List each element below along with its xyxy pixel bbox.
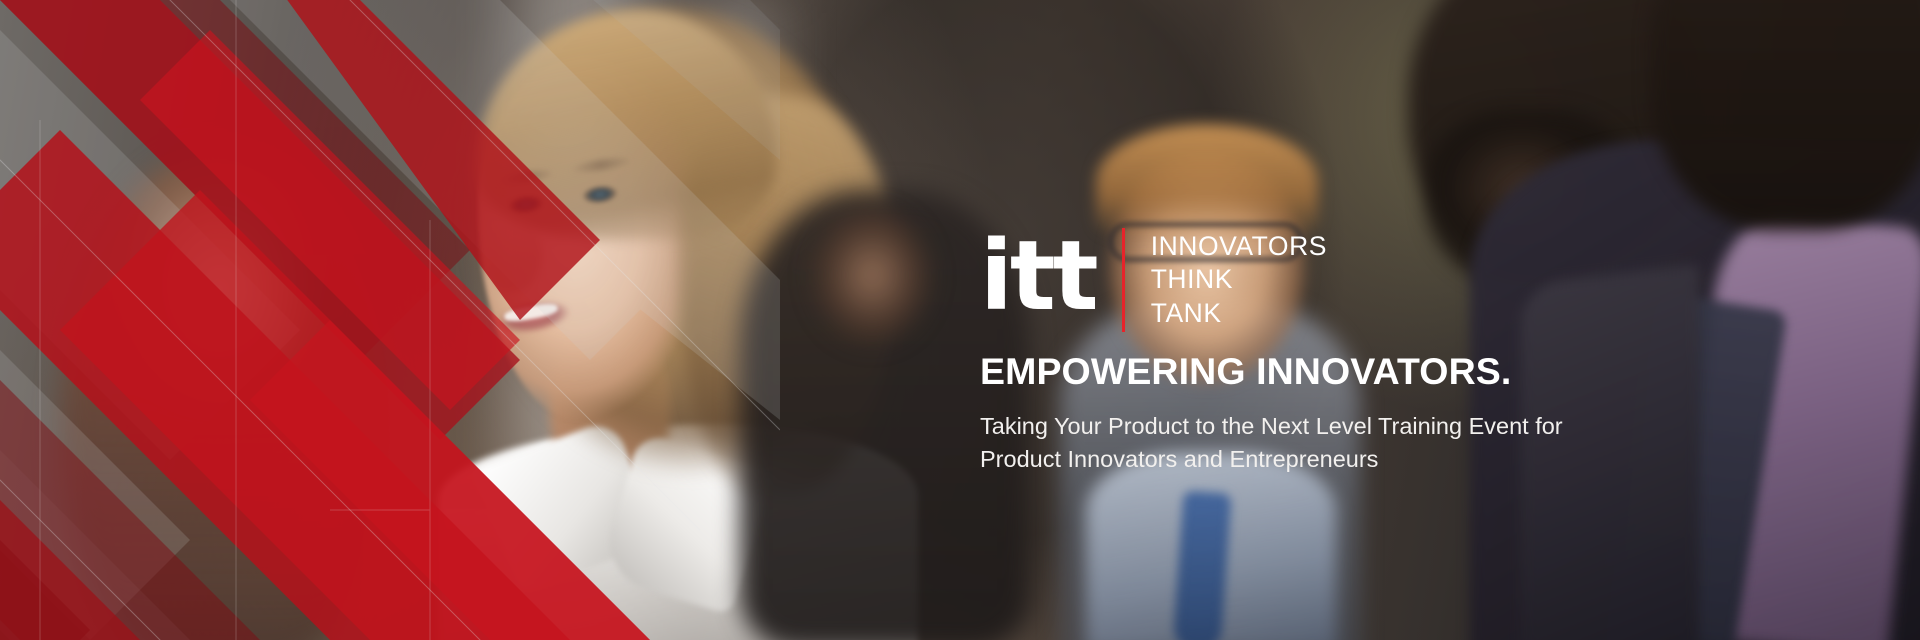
itt-logo[interactable]: itt INNOVATORS THINK TANK (980, 228, 1680, 332)
logo-wordmark: INNOVATORS THINK TANK (1151, 230, 1327, 330)
subhead-line-2: Product Innovators and Entrepreneurs (980, 446, 1378, 472)
logo-divider-rule (1122, 228, 1125, 332)
subhead-line-1: Taking Your Product to the Next Level Tr… (980, 413, 1563, 439)
hero-subhead: Taking Your Product to the Next Level Tr… (980, 410, 1660, 477)
hero-content: itt INNOVATORS THINK TANK EMPOWERING INN… (980, 228, 1680, 477)
itt-logo-mark: itt (980, 238, 1122, 315)
background-attendee-mid-head (806, 206, 938, 356)
logo-word-tank: TANK (1151, 297, 1327, 330)
page-title: EMPOWERING INNOVATORS. (980, 352, 1680, 392)
attendee-glasses-tie (1172, 491, 1231, 640)
logo-word-innovators: INNOVATORS (1151, 230, 1327, 263)
logo-word-think: THINK (1151, 263, 1327, 296)
hero-banner: itt INNOVATORS THINK TANK EMPOWERING INN… (0, 0, 1920, 640)
